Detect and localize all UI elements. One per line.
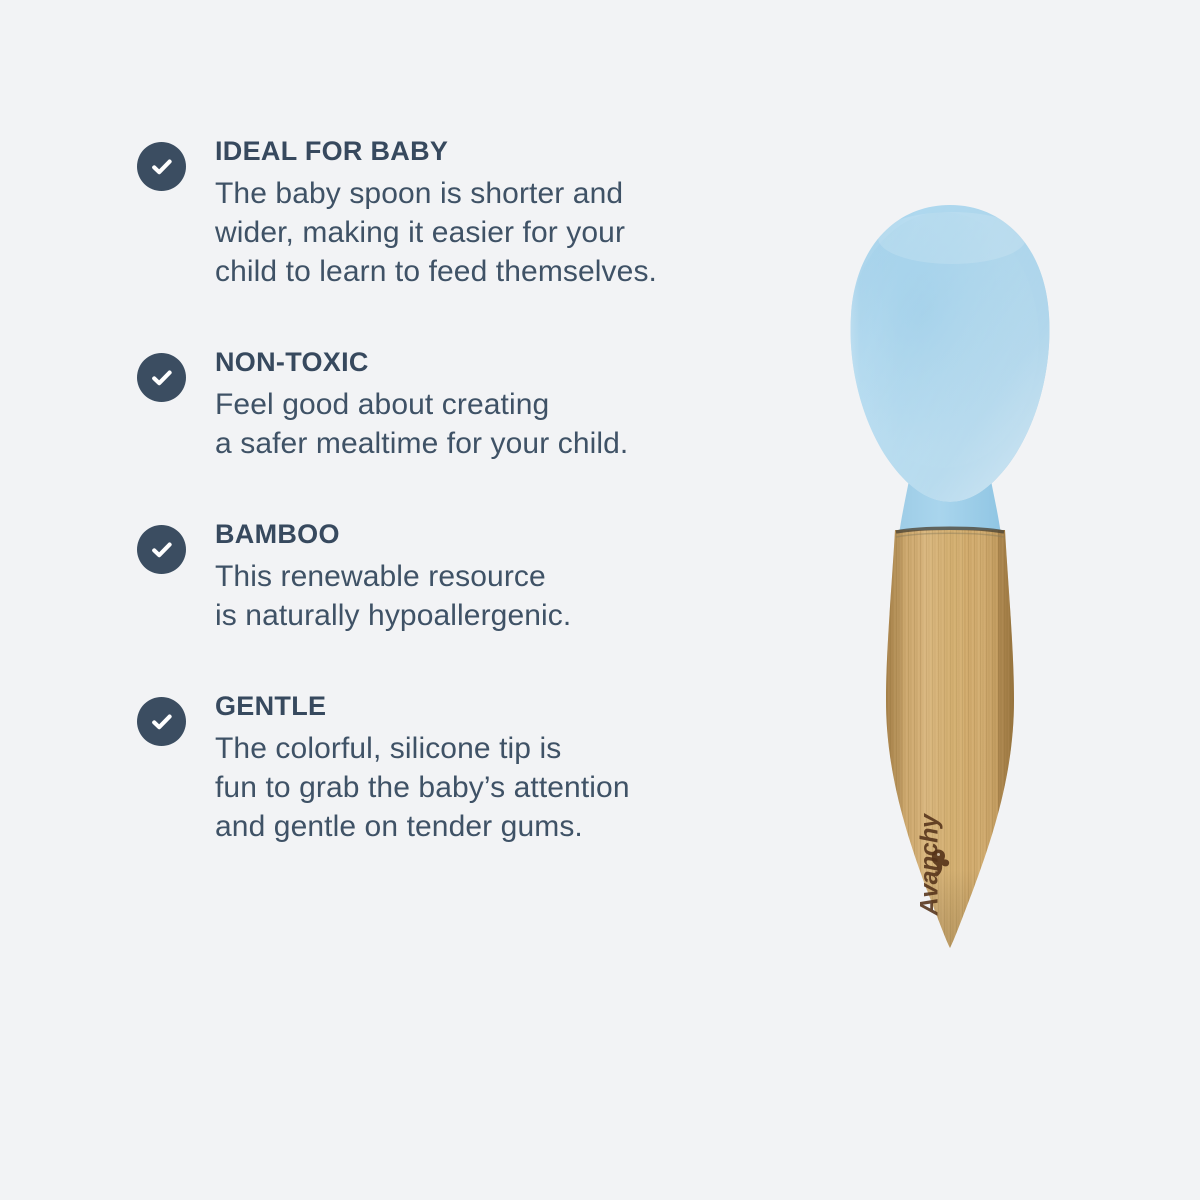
check-circle-icon: [137, 353, 186, 402]
feature-description-line: and gentle on tender gums.: [215, 807, 757, 846]
feature-item-bamboo: BAMBOO This renewable resource is natura…: [137, 521, 757, 635]
feature-description: The baby spoon is shorter and wider, mak…: [215, 174, 757, 291]
feature-item-ideal-for-baby: IDEAL FOR BABY The baby spoon is shorter…: [137, 138, 757, 291]
feature-item-non-toxic: NON-TOXIC Feel good about creating a saf…: [137, 349, 757, 463]
feature-description-line: The baby spoon is shorter and: [215, 174, 757, 213]
feature-description: This renewable resource is naturally hyp…: [215, 557, 757, 635]
check-circle-icon: [137, 697, 186, 746]
feature-description-line: This renewable resource: [215, 557, 757, 596]
feature-description-line: a safer mealtime for your child.: [215, 424, 757, 463]
product-infographic: IDEAL FOR BABY The baby spoon is shorter…: [0, 0, 1200, 1200]
feature-description-line: wider, making it easier for your: [215, 213, 757, 252]
feature-item-gentle: GENTLE The colorful, silicone tip is fun…: [137, 693, 757, 846]
check-circle-icon: [137, 142, 186, 191]
feature-description: The colorful, silicone tip is fun to gra…: [215, 729, 757, 846]
feature-description-line: child to learn to feed themselves.: [215, 252, 757, 291]
feature-title: NON-TOXIC: [215, 349, 757, 376]
feature-title: BAMBOO: [215, 521, 757, 548]
feature-description-line: Feel good about creating: [215, 385, 757, 424]
feature-list: IDEAL FOR BABY The baby spoon is shorter…: [137, 138, 757, 846]
check-circle-icon: [137, 525, 186, 574]
feature-title: GENTLE: [215, 693, 757, 720]
feature-title: IDEAL FOR BABY: [215, 138, 757, 165]
feature-description-line: is naturally hypoallergenic.: [215, 596, 757, 635]
feature-description: Feel good about creating a safer mealtim…: [215, 385, 757, 463]
bird-icon: [925, 846, 955, 880]
brand-logo: Avanchy: [894, 806, 966, 924]
feature-description-line: The colorful, silicone tip is: [215, 729, 757, 768]
feature-description-line: fun to grab the baby’s attention: [215, 768, 757, 807]
